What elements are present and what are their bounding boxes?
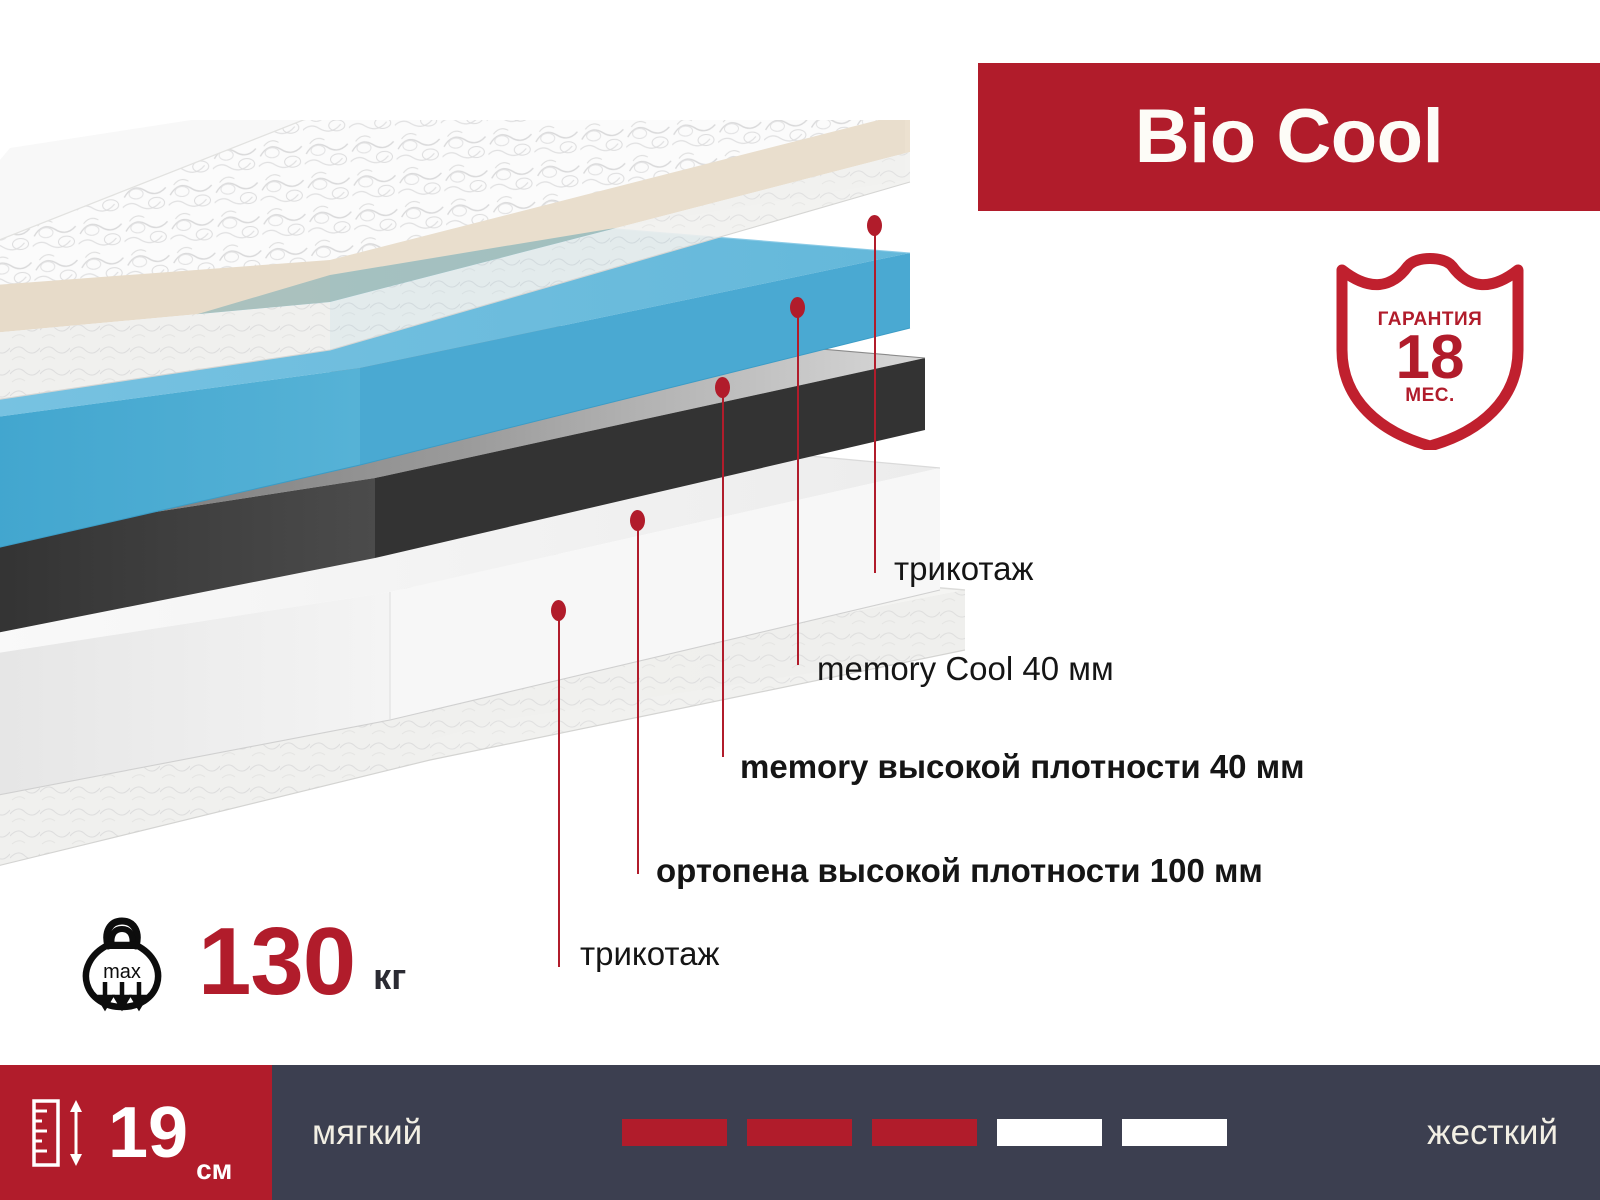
max-weight-block: max 130 кг bbox=[78, 912, 406, 1012]
firmness-segment-4 bbox=[997, 1119, 1102, 1146]
firmness-segment-3 bbox=[872, 1119, 977, 1146]
layer-label-memory-cool: memory Cool 40 мм bbox=[817, 650, 1114, 688]
svg-text:max: max bbox=[103, 961, 141, 983]
max-weight-value: 130 bbox=[198, 914, 355, 1010]
firmness-firm-label: жесткий bbox=[1427, 1113, 1558, 1153]
leader-line-ortopena bbox=[637, 523, 639, 874]
warranty-badge: ГАРАНТИЯ 18 МЕС. bbox=[1330, 252, 1530, 450]
leader-line-memory-cool bbox=[797, 310, 799, 665]
leader-line-top-knit bbox=[874, 228, 876, 573]
leader-dot-memory-dense bbox=[715, 377, 730, 398]
firmness-segment-5 bbox=[1122, 1119, 1227, 1146]
height-value: 19 bbox=[108, 1097, 188, 1169]
height-block: 19 см bbox=[0, 1065, 272, 1200]
firmness-block: мягкий жесткий bbox=[272, 1065, 1600, 1200]
layer-label-memory-dense: memory высокой плотности 40 мм bbox=[740, 748, 1305, 786]
mattress-illustration bbox=[0, 120, 980, 910]
leader-dot-memory-cool bbox=[790, 297, 805, 318]
bottom-info-bar: 19 см мягкий жесткий bbox=[0, 1065, 1600, 1200]
leader-dot-top-knit bbox=[867, 215, 882, 236]
leader-dot-bottom-knit bbox=[551, 600, 566, 621]
firmness-scale bbox=[622, 1119, 1227, 1146]
firmness-segment-1 bbox=[622, 1119, 727, 1146]
shield-outline-icon bbox=[1342, 259, 1518, 447]
product-title-banner: Bio Cool bbox=[978, 63, 1600, 211]
layer-label-ortopena: ортопена высокой плотности 100 мм bbox=[656, 852, 1263, 890]
firmness-segment-2 bbox=[747, 1119, 852, 1146]
ruler-icon bbox=[30, 1097, 92, 1169]
kettlebell-icon: max bbox=[78, 912, 166, 1012]
product-infographic: трикотаж memory Cool 40 мм memory высоко… bbox=[0, 0, 1600, 1200]
leader-line-memory-dense bbox=[722, 390, 724, 757]
leader-line-bottom-knit bbox=[558, 613, 560, 967]
leader-dot-ortopena bbox=[630, 510, 645, 531]
layer-label-bottom-knit: трикотаж bbox=[580, 935, 720, 973]
layer-label-top-knit: трикотаж bbox=[894, 550, 1034, 588]
height-unit: см bbox=[196, 1154, 232, 1186]
page-title: Bio Cool bbox=[1135, 99, 1443, 175]
max-weight-unit: кг bbox=[373, 956, 406, 998]
firmness-soft-label: мягкий bbox=[312, 1113, 422, 1153]
